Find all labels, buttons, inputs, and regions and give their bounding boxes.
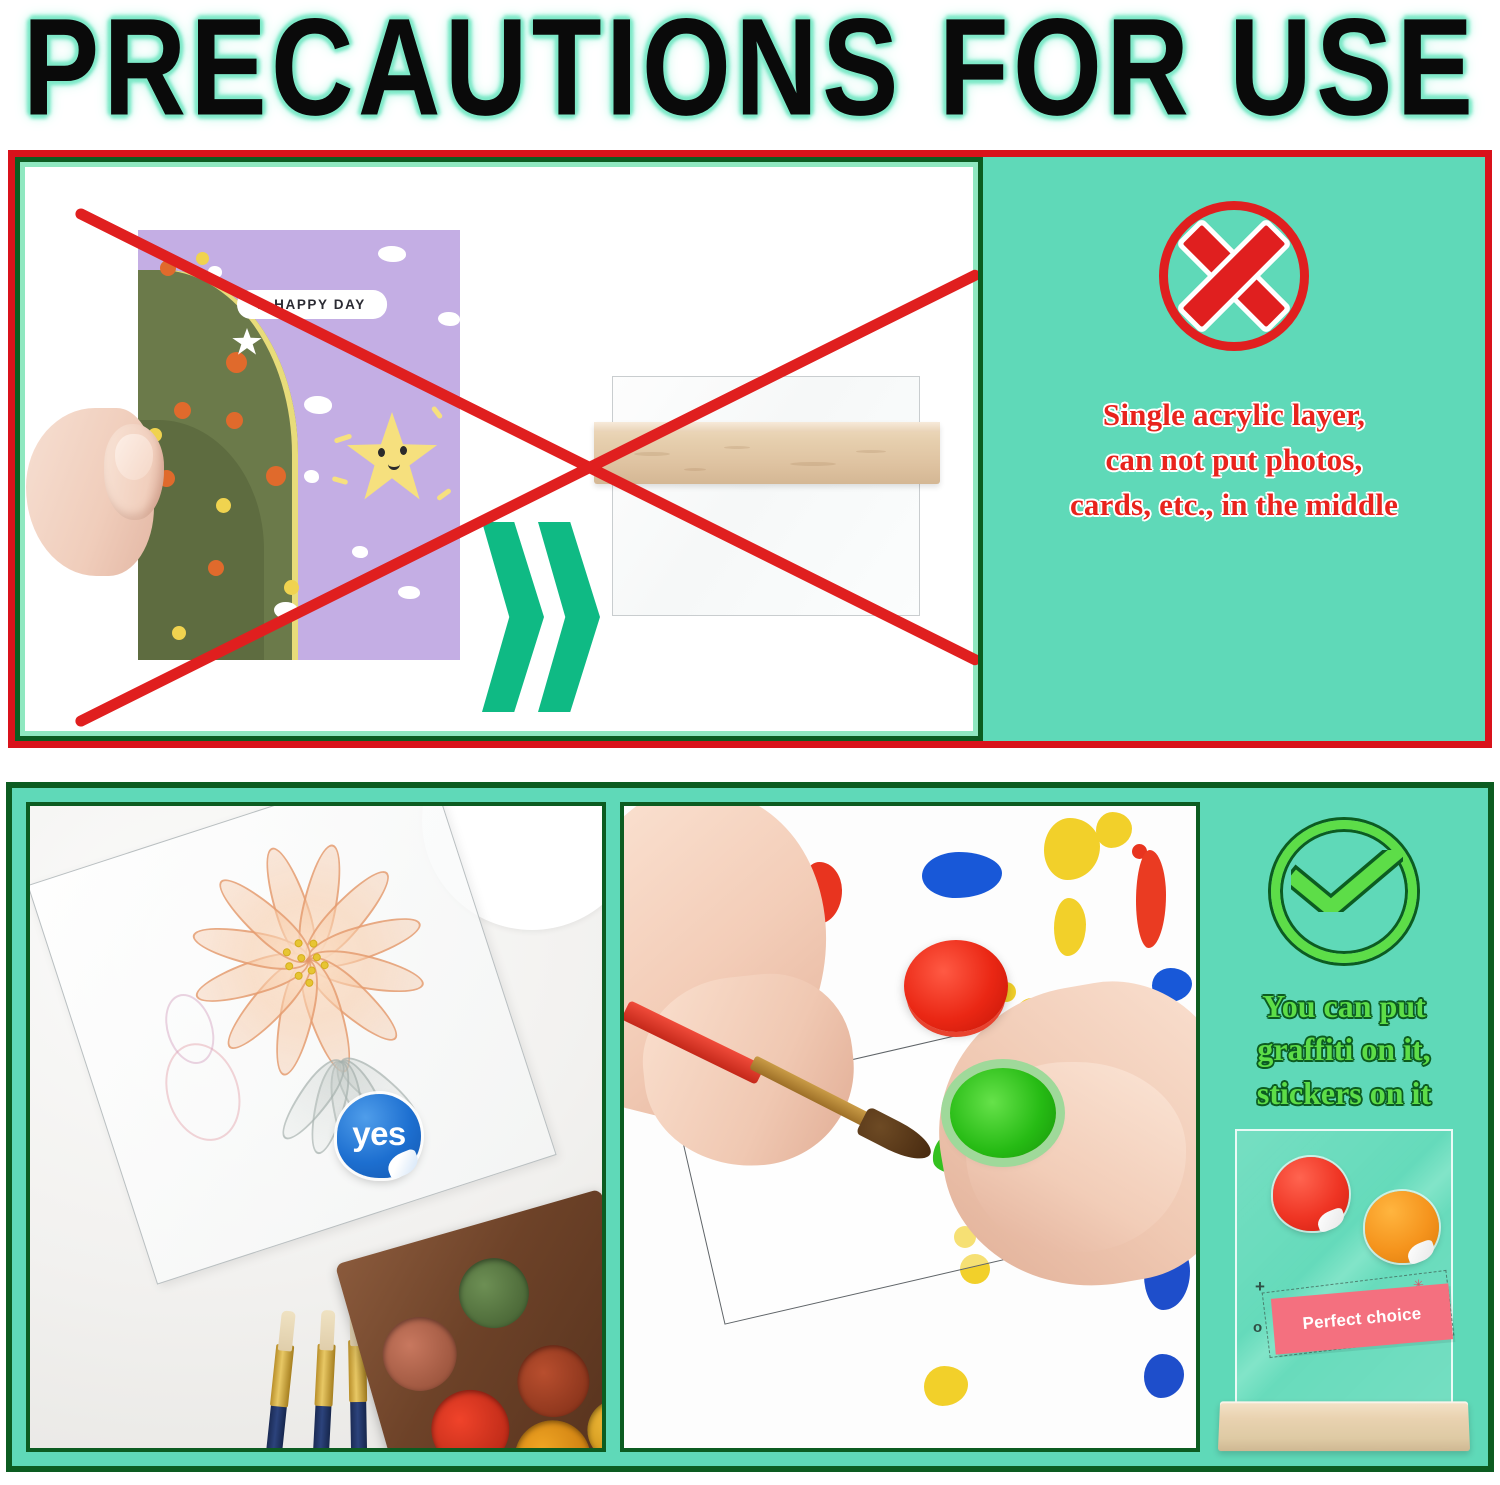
- green-paint-pot: [950, 1068, 1056, 1158]
- ornament-dot: [284, 580, 299, 595]
- product-acrylic-panel: + o ✳ ✳ Perfect choice: [1235, 1129, 1453, 1419]
- thumbnail: [115, 434, 153, 480]
- ornament-dot: [226, 412, 243, 429]
- snow-dot: [378, 246, 406, 262]
- paint-splatter: [922, 852, 1002, 898]
- snow-dot: [438, 312, 460, 326]
- page-title-bar: PRECAUTIONS FOR USE: [0, 0, 1500, 132]
- orange-sticker: [1365, 1191, 1439, 1263]
- ok-line-1: You can put: [1257, 985, 1431, 1029]
- acrylic-stand: [612, 196, 952, 716]
- bottom-right-notice: You can put graffiti on it, stickers on …: [1214, 802, 1474, 1452]
- warning-text-block: Single acrylic layer, can not put photos…: [1070, 393, 1398, 528]
- star-sparkle: [332, 476, 349, 485]
- top-left-photo-cell: A HAPPY DAY: [15, 157, 983, 741]
- bottom-middle-photo-cell: [620, 802, 1200, 1452]
- ornament-dot: [172, 626, 186, 640]
- ornament-dot: [174, 402, 191, 419]
- chevron-right-icon: [538, 522, 600, 712]
- paint-splatter: [1096, 812, 1132, 848]
- circle-check-icon: [1271, 820, 1417, 963]
- red-sticker: [1273, 1157, 1349, 1231]
- snow-dot: [398, 586, 420, 599]
- red-paint-pot: [904, 940, 1008, 1032]
- wooden-base: [594, 422, 940, 484]
- bottom-left-photo-cell: [26, 802, 606, 1452]
- paint-splatter: [1044, 818, 1100, 880]
- chevron-right-icon: [482, 522, 544, 712]
- snow-dot: [304, 396, 332, 414]
- ok-line-2: graffiti on it,: [1257, 1028, 1431, 1072]
- circle-x-icon: [1159, 201, 1309, 351]
- ornament-dot: [226, 352, 247, 373]
- star-eye: [400, 446, 407, 455]
- circle-mark: o: [1253, 1319, 1262, 1336]
- paint-splatter: [1054, 898, 1086, 956]
- plus-mark: +: [1255, 1277, 1265, 1297]
- ornament-dot: [196, 252, 209, 265]
- perfect-choice-label: Perfect choice: [1302, 1304, 1422, 1334]
- ornament-dot: [266, 466, 286, 486]
- star-character: [346, 412, 438, 504]
- top-precaution-panel: A HAPPY DAY: [8, 150, 1492, 748]
- paint-splatter: [924, 1366, 968, 1406]
- warning-line-1: Single acrylic layer,: [1070, 393, 1398, 438]
- yes-sticker-label: yes: [352, 1115, 406, 1153]
- bottom-usage-panel: You can put graffiti on it, stickers on …: [6, 782, 1494, 1472]
- warning-line-2: can not put photos,: [1070, 438, 1398, 483]
- snow-dot: [352, 546, 368, 558]
- snow-dot: [304, 470, 319, 483]
- greeting-card: A HAPPY DAY: [138, 230, 460, 660]
- star-sparkle: [436, 488, 452, 501]
- paint-splatter: [1136, 850, 1166, 948]
- top-right-notice: Single acrylic layer, can not put photos…: [983, 157, 1485, 741]
- ok-line-3: stickers on it: [1257, 1072, 1431, 1116]
- product-mock: + o ✳ ✳ Perfect choice: [1219, 1129, 1469, 1452]
- infographic-root: PRECAUTIONS FOR USE: [0, 0, 1500, 1485]
- product-wooden-base: [1218, 1402, 1470, 1452]
- warning-line-3: cards, etc., in the middle: [1070, 483, 1398, 528]
- paint-splatter: [1144, 1354, 1184, 1398]
- check-mark-icon: [1291, 850, 1403, 912]
- ornament-dot: [208, 560, 224, 576]
- page-title: PRECAUTIONS FOR USE: [23, 0, 1477, 146]
- ornament-dot: [216, 498, 231, 513]
- yes-sticker: yes: [337, 1094, 421, 1178]
- star-sparkle: [431, 405, 444, 419]
- star-eye: [378, 448, 385, 457]
- green-arrow-group: [482, 522, 604, 712]
- ok-text-block: You can put graffiti on it, stickers on …: [1257, 985, 1431, 1116]
- star-sparkle: [334, 433, 353, 443]
